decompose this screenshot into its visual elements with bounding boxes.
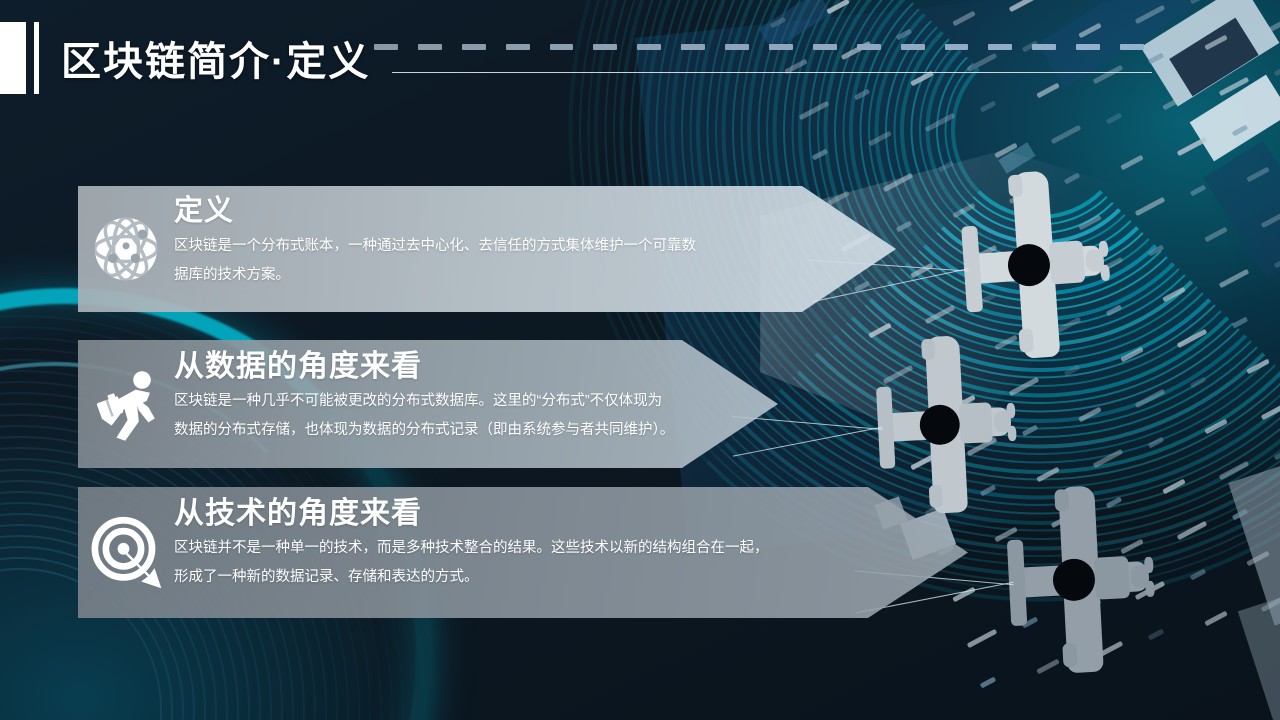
title-dash bbox=[462, 44, 486, 50]
airplane-wing-tip bbox=[1008, 174, 1024, 197]
title-dash bbox=[945, 44, 969, 50]
title-dash bbox=[681, 44, 705, 50]
card-paragraph-line: 区块链是一种几乎不可能被更改的分布式数据库。这里的“分布式”不仅体现为 bbox=[174, 387, 674, 416]
card-paragraph: 区块链是一种几乎不可能被更改的分布式数据库。这里的“分布式”不仅体现为 数据的分… bbox=[174, 387, 674, 445]
card-heading: 从技术的角度来看 bbox=[174, 497, 769, 530]
title-dash bbox=[1032, 44, 1056, 50]
title-underline bbox=[392, 72, 1152, 73]
title-dash bbox=[1076, 44, 1100, 50]
title-dash bbox=[1120, 44, 1144, 50]
airplane-propeller-blade bbox=[1098, 241, 1108, 258]
airplane-rear-body bbox=[1048, 240, 1085, 284]
card-heading: 定义 bbox=[174, 196, 696, 228]
card-paragraph: 区块链是一个分布式账本，一种通过去中心化、去信任的方式集体维护一个可靠数 据库的… bbox=[174, 232, 696, 290]
airplane-propeller-blade bbox=[1144, 557, 1154, 573]
card-heading: 从数据的角度来看 bbox=[174, 350, 674, 383]
airplane-propeller-blade bbox=[1006, 403, 1015, 419]
content-card-definition[interactable]: 定义 区块链是一个分布式账本，一种通过去中心化、去信任的方式集体维护一个可靠数 … bbox=[78, 186, 896, 312]
card-paragraph-line: 形成了一种新的数据记录、存储和表达的方式。 bbox=[174, 563, 769, 592]
title-dash bbox=[769, 44, 793, 50]
title-dash bbox=[813, 44, 837, 50]
title-dash bbox=[988, 44, 1012, 50]
title-dash bbox=[637, 44, 661, 50]
title-dash bbox=[506, 44, 530, 50]
airplane-propeller-blade bbox=[1007, 426, 1016, 442]
title-dash bbox=[725, 44, 749, 50]
card-paragraph-line: 区块链并不是一种单一的技术，而是多种技术整合的结果。这些技术以新的结构组合在一起… bbox=[174, 534, 769, 563]
title-dash bbox=[550, 44, 574, 50]
target-arrow-icon bbox=[78, 487, 174, 618]
page-title: 区块链简介·定义 bbox=[0, 22, 370, 94]
airplane-wing-tip bbox=[1054, 489, 1069, 512]
title-dash bbox=[857, 44, 881, 50]
card-paragraph-line: 区块链是一个分布式账本，一种通过去中心化、去信任的方式集体维护一个可靠数 bbox=[174, 232, 696, 261]
content-card-tech-perspective[interactable]: 从技术的角度来看 区块链并不是一种单一的技术，而是多种技术整合的结果。这些技术以… bbox=[78, 487, 968, 618]
content-card-data-perspective[interactable]: 从数据的角度来看 区块链是一种几乎不可能被更改的分布式数据库。这里的“分布式”不… bbox=[78, 340, 778, 468]
card-body: 从数据的角度来看 区块链是一种几乎不可能被更改的分布式数据库。这里的“分布式”不… bbox=[174, 340, 674, 445]
card-paragraph-line: 据库的技术方案。 bbox=[174, 261, 696, 290]
card-body: 从技术的角度来看 区块链并不是一种单一的技术，而是多种技术整合的结果。这些技术以… bbox=[174, 487, 769, 592]
card-paragraph-line: 数据的分布式存储，也体现为数据的分布式记录（即由系统参与者共同维护）。 bbox=[174, 416, 674, 445]
title-dash bbox=[374, 44, 398, 50]
airplane-propeller-blade bbox=[1145, 581, 1155, 597]
title-accent-bar-thin bbox=[34, 22, 39, 94]
airplane-wing-tip bbox=[1062, 643, 1077, 668]
airplane-rear-body bbox=[1094, 556, 1130, 600]
card-paragraph: 区块链并不是一种单一的技术，而是多种技术整合的结果。这些技术以新的结构组合在一起… bbox=[174, 534, 769, 592]
globe-network-icon bbox=[78, 186, 174, 312]
title-dash bbox=[901, 44, 925, 50]
card-body: 定义 区块链是一个分布式账本，一种通过去中心化、去信任的方式集体维护一个可靠数 … bbox=[174, 186, 696, 290]
airplane-rear-body bbox=[959, 402, 993, 444]
title-accent-gap bbox=[26, 22, 34, 94]
airplane-wing-tip bbox=[921, 339, 935, 361]
page-title-text: 区块链简介·定义 bbox=[61, 29, 370, 87]
airplane-icon bbox=[970, 474, 1210, 686]
title-accent-bar-thick bbox=[0, 22, 26, 94]
presentation-slide: 区块链简介·定义 bbox=[0, 0, 1280, 720]
airplane-propeller-blade bbox=[1100, 265, 1110, 282]
title-dash bbox=[593, 44, 617, 50]
walking-businessman-icon bbox=[78, 340, 174, 468]
title-dash-rule bbox=[374, 44, 1164, 50]
title-dash bbox=[418, 44, 442, 50]
